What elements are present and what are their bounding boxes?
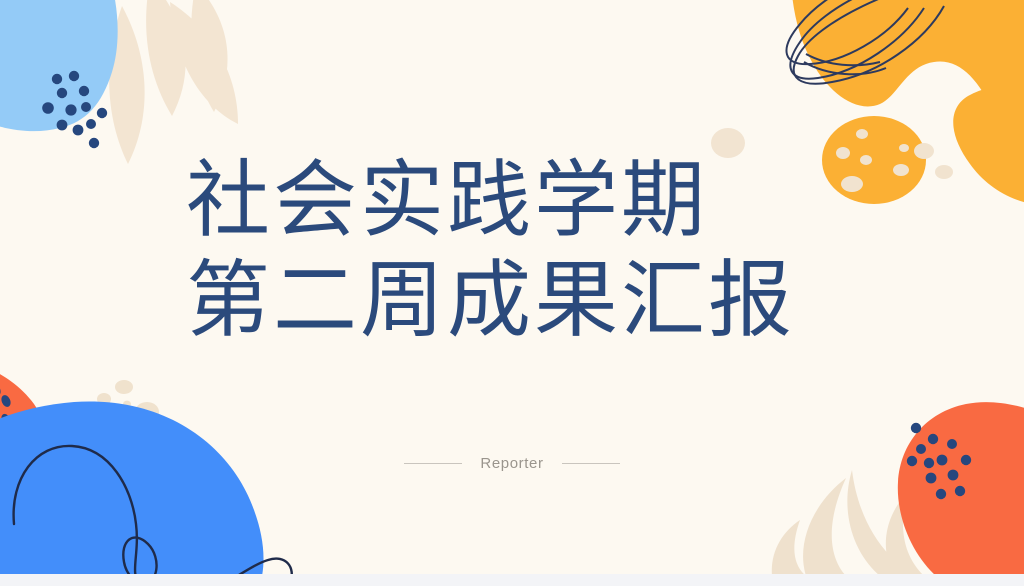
orange-red-blob-bottom-right (898, 402, 1024, 574)
slide-title: 社会实践学期 第二周成果汇报 (186, 152, 886, 352)
title-line-1: 社会实践学期 (186, 152, 886, 252)
slide-canvas: 社会实践学期 第二周成果汇报 Reporter (0, 0, 1024, 574)
light-blue-blob-top-left (0, 0, 118, 131)
navy-dot-cluster-top-left (42, 71, 107, 148)
presentation-slide-viewer: 社会实践学期 第二周成果汇报 Reporter (0, 0, 1024, 586)
navy-dash-cluster-left (0, 383, 20, 464)
strong-blue-blob-bottom-left (0, 401, 264, 574)
bottom-strip (0, 574, 1024, 586)
beige-dot-cluster-bottom-left (90, 380, 164, 444)
reporter-rule-left (404, 463, 462, 464)
navy-loop-scribble-top-right (787, 0, 964, 84)
title-line-2: 第二周成果汇报 (186, 252, 886, 352)
reporter-row: Reporter (0, 455, 1024, 472)
reporter-rule-right (562, 463, 620, 464)
beige-leaves-top-left (109, 0, 238, 164)
reporter-label: Reporter (480, 455, 543, 472)
beige-leaves-bottom-right (772, 470, 924, 574)
